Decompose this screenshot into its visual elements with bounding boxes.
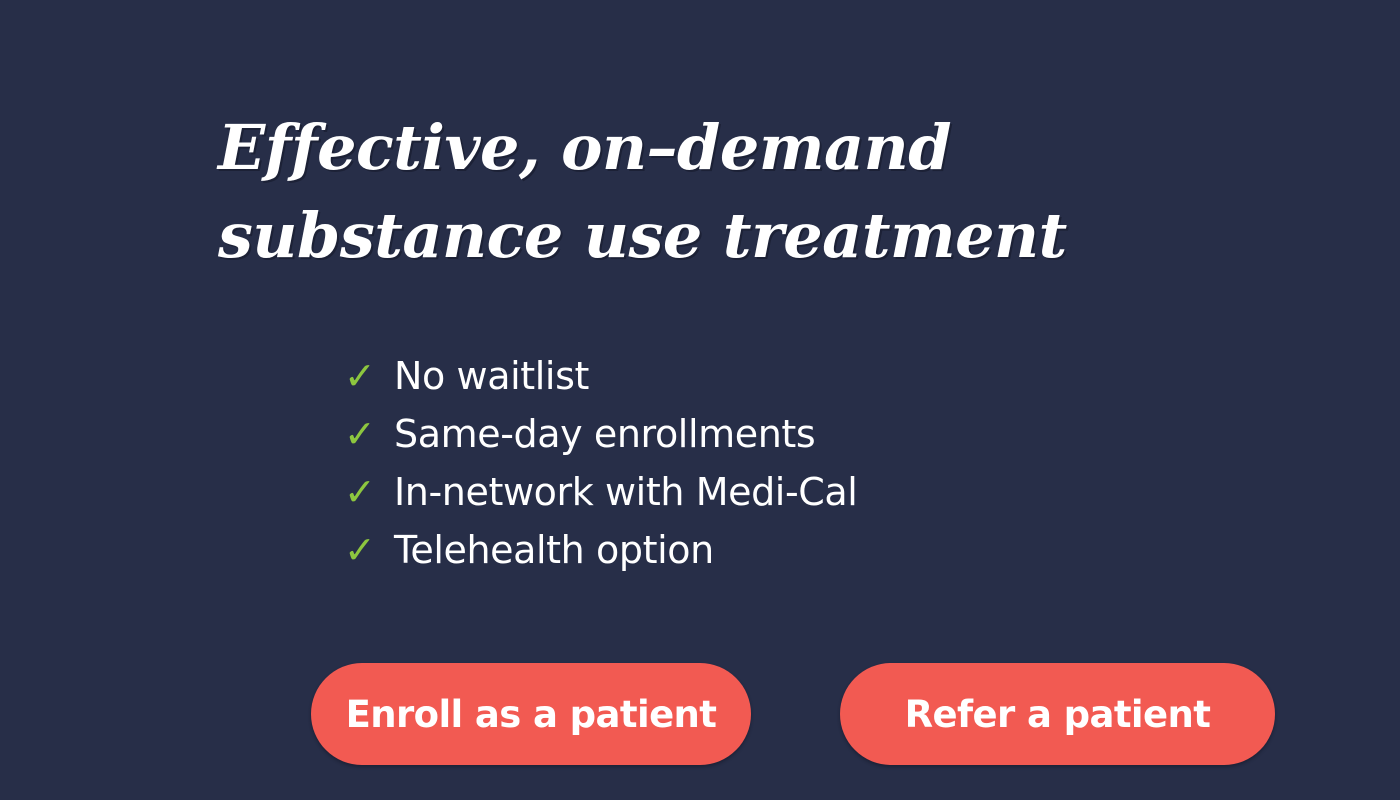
feature-label: No waitlist: [394, 347, 589, 405]
feature-label: Telehealth option: [394, 521, 714, 579]
feature-label: Same-day enrollments: [394, 405, 815, 463]
cta-button-row: Enroll as a patient Refer a patient: [311, 663, 1275, 765]
list-item: ✓ No waitlist: [344, 347, 857, 405]
list-item: ✓ Same-day enrollments: [344, 405, 857, 463]
check-icon: ✓: [344, 406, 394, 464]
check-icon: ✓: [344, 348, 394, 406]
hero-section: Effective, on–demand substance use treat…: [0, 0, 1400, 800]
page-title: Effective, on–demand substance use treat…: [218, 104, 1218, 280]
enroll-as-patient-button[interactable]: Enroll as a patient: [311, 663, 751, 765]
check-icon: ✓: [344, 522, 394, 580]
list-item: ✓ Telehealth option: [344, 521, 857, 579]
list-item: ✓ In-network with Medi-Cal: [344, 463, 857, 521]
check-icon: ✓: [344, 464, 394, 522]
feature-label: In-network with Medi-Cal: [394, 463, 857, 521]
feature-list: ✓ No waitlist ✓ Same-day enrollments ✓ I…: [344, 347, 857, 579]
refer-a-patient-button[interactable]: Refer a patient: [840, 663, 1275, 765]
